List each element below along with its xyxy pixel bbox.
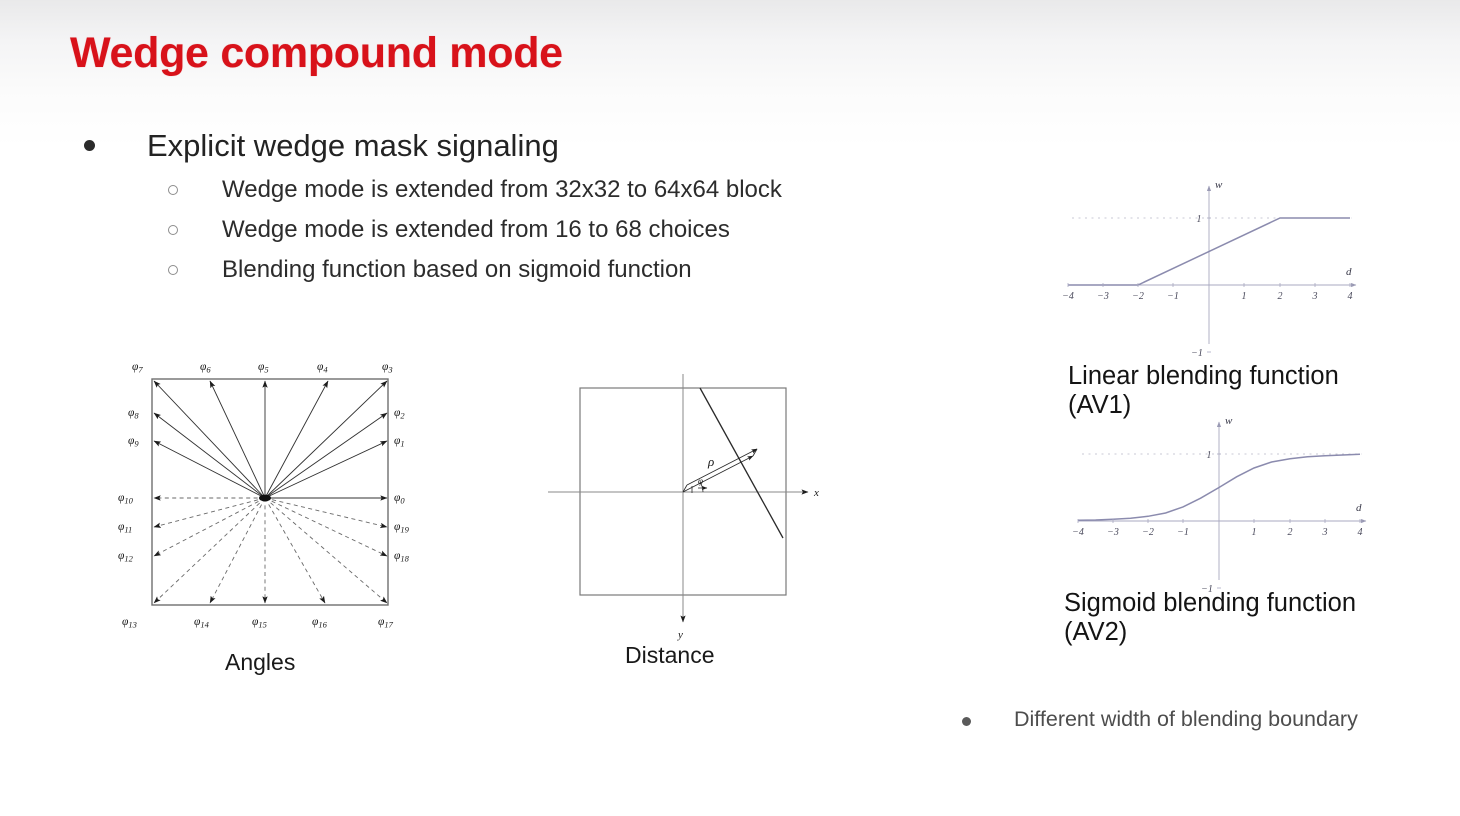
list-item: Wedge mode is extended from 16 to 68 cho… <box>168 213 782 246</box>
svg-text:φ17: φ17 <box>378 616 394 630</box>
svg-text:−4: −4 <box>1062 291 1074 302</box>
svg-text:φ15: φ15 <box>252 616 267 630</box>
svg-text:φ11: φ11 <box>118 521 132 535</box>
svg-text:φ2: φ2 <box>394 407 405 421</box>
distance-labels: x y ρ φ <box>677 454 819 641</box>
svg-text:−1: −1 <box>1177 527 1189 538</box>
svg-text:−1: −1 <box>1191 348 1203 359</box>
disc-bullet-icon <box>84 140 95 151</box>
bullet-level1-label: Explicit wedge mask signaling <box>147 126 559 166</box>
bottom-note-label: Different width of blending boundary <box>1014 706 1358 732</box>
bullet-level2-label: Blending function based on sigmoid funct… <box>222 253 692 286</box>
disc-bullet-icon <box>962 717 971 726</box>
svg-text:φ3: φ3 <box>382 361 393 375</box>
svg-text:4: 4 <box>1358 527 1363 538</box>
sigmoid-tick-labels: −4 −3 −2 −1 1 2 3 4 1 −1 <box>1072 450 1362 595</box>
linear-tick-labels: −4 −3 −2 −1 1 2 3 4 1 −1 <box>1062 214 1352 359</box>
svg-text:1: 1 <box>1197 214 1202 225</box>
circle-bullet-icon <box>168 225 178 235</box>
linear-axis-labels: w d <box>1215 179 1352 278</box>
bullet-list: Explicit wedge mask signaling Wedge mode… <box>84 126 782 293</box>
svg-text:φ7: φ7 <box>132 361 143 375</box>
angles-figure: φ7 φ6 φ5 φ4 φ3 φ8 φ9 φ10 φ11 φ12 φ2 φ1 φ… <box>110 352 430 642</box>
svg-text:−1: −1 <box>1167 291 1179 302</box>
bullet-level2-label: Wedge mode is extended from 32x32 to 64x… <box>222 173 782 206</box>
svg-text:φ0: φ0 <box>394 492 405 506</box>
circle-bullet-icon <box>168 265 178 275</box>
sigmoid-caption-line1: Sigmoid blending function <box>1064 589 1356 618</box>
svg-text:1: 1 <box>1242 291 1247 302</box>
svg-text:−4: −4 <box>1072 527 1084 538</box>
svg-text:φ5: φ5 <box>258 361 269 375</box>
svg-text:φ14: φ14 <box>194 616 210 630</box>
svg-text:φ18: φ18 <box>394 550 410 564</box>
sigmoid-blending-chart: −4 −3 −2 −1 1 2 3 4 1 −1 w d <box>1060 408 1420 608</box>
circle-bullet-icon <box>168 185 178 195</box>
linear-caption-line1: Linear blending function <box>1068 362 1339 391</box>
sigmoid-caption-line2: (AV2) <box>1064 618 1356 647</box>
svg-text:φ10: φ10 <box>118 492 134 506</box>
sub-bullet-list: Wedge mode is extended from 32x32 to 64x… <box>168 173 782 286</box>
svg-text:3: 3 <box>1312 291 1318 302</box>
svg-text:−3: −3 <box>1107 527 1119 538</box>
svg-text:φ1: φ1 <box>394 435 405 449</box>
linear-y-axis-label: w <box>1215 179 1223 191</box>
slide-canvas: Wedge compound mode Explicit wedge mask … <box>0 0 1460 816</box>
bullet-level2-label: Wedge mode is extended from 16 to 68 cho… <box>222 213 730 246</box>
svg-text:1: 1 <box>1207 450 1212 461</box>
svg-text:1: 1 <box>1252 527 1257 538</box>
sigmoid-chart-caption: Sigmoid blending function (AV2) <box>1064 589 1356 647</box>
angles-center-point <box>259 495 271 502</box>
angles-dashed-arrows <box>154 498 387 603</box>
list-item: Blending function based on sigmoid funct… <box>168 253 782 286</box>
svg-text:−3: −3 <box>1097 291 1109 302</box>
svg-text:2: 2 <box>1278 291 1283 302</box>
distance-rho-label: ρ <box>707 454 714 469</box>
list-item: Wedge mode is extended from 32x32 to 64x… <box>168 173 782 206</box>
bullet-level1: Explicit wedge mask signaling <box>84 126 782 166</box>
svg-text:φ6: φ6 <box>200 361 211 375</box>
sigmoid-x-axis-label: d <box>1356 502 1362 514</box>
svg-text:φ8: φ8 <box>128 407 139 421</box>
svg-text:2: 2 <box>1288 527 1293 538</box>
page-title: Wedge compound mode <box>70 29 563 78</box>
linear-x-axis-label: d <box>1346 266 1352 278</box>
svg-text:φ9: φ9 <box>128 435 139 449</box>
svg-text:3: 3 <box>1322 527 1328 538</box>
linear-blending-chart: −4 −3 −2 −1 1 2 3 4 1 −1 w d <box>1050 172 1410 372</box>
bottom-note: Different width of blending boundary <box>962 706 1358 732</box>
svg-text:φ13: φ13 <box>122 616 137 630</box>
svg-text:φ19: φ19 <box>394 521 410 535</box>
svg-text:4: 4 <box>1348 291 1353 302</box>
angles-solid-arrows <box>154 381 387 498</box>
sigmoid-axis-labels: w d <box>1225 415 1362 514</box>
svg-text:φ12: φ12 <box>118 550 134 564</box>
distance-y-axis-label: y <box>677 629 683 641</box>
sigmoid-y-axis-label: w <box>1225 415 1233 427</box>
distance-x-axis-label: x <box>813 487 819 499</box>
distance-phi-label: φ <box>698 476 703 486</box>
svg-text:−2: −2 <box>1132 291 1144 302</box>
svg-text:φ4: φ4 <box>317 361 328 375</box>
distance-caption: Distance <box>625 642 714 669</box>
distance-figure: x y ρ φ <box>540 360 840 640</box>
svg-text:φ16: φ16 <box>312 616 328 630</box>
svg-text:−2: −2 <box>1142 527 1154 538</box>
angles-caption: Angles <box>225 649 295 676</box>
